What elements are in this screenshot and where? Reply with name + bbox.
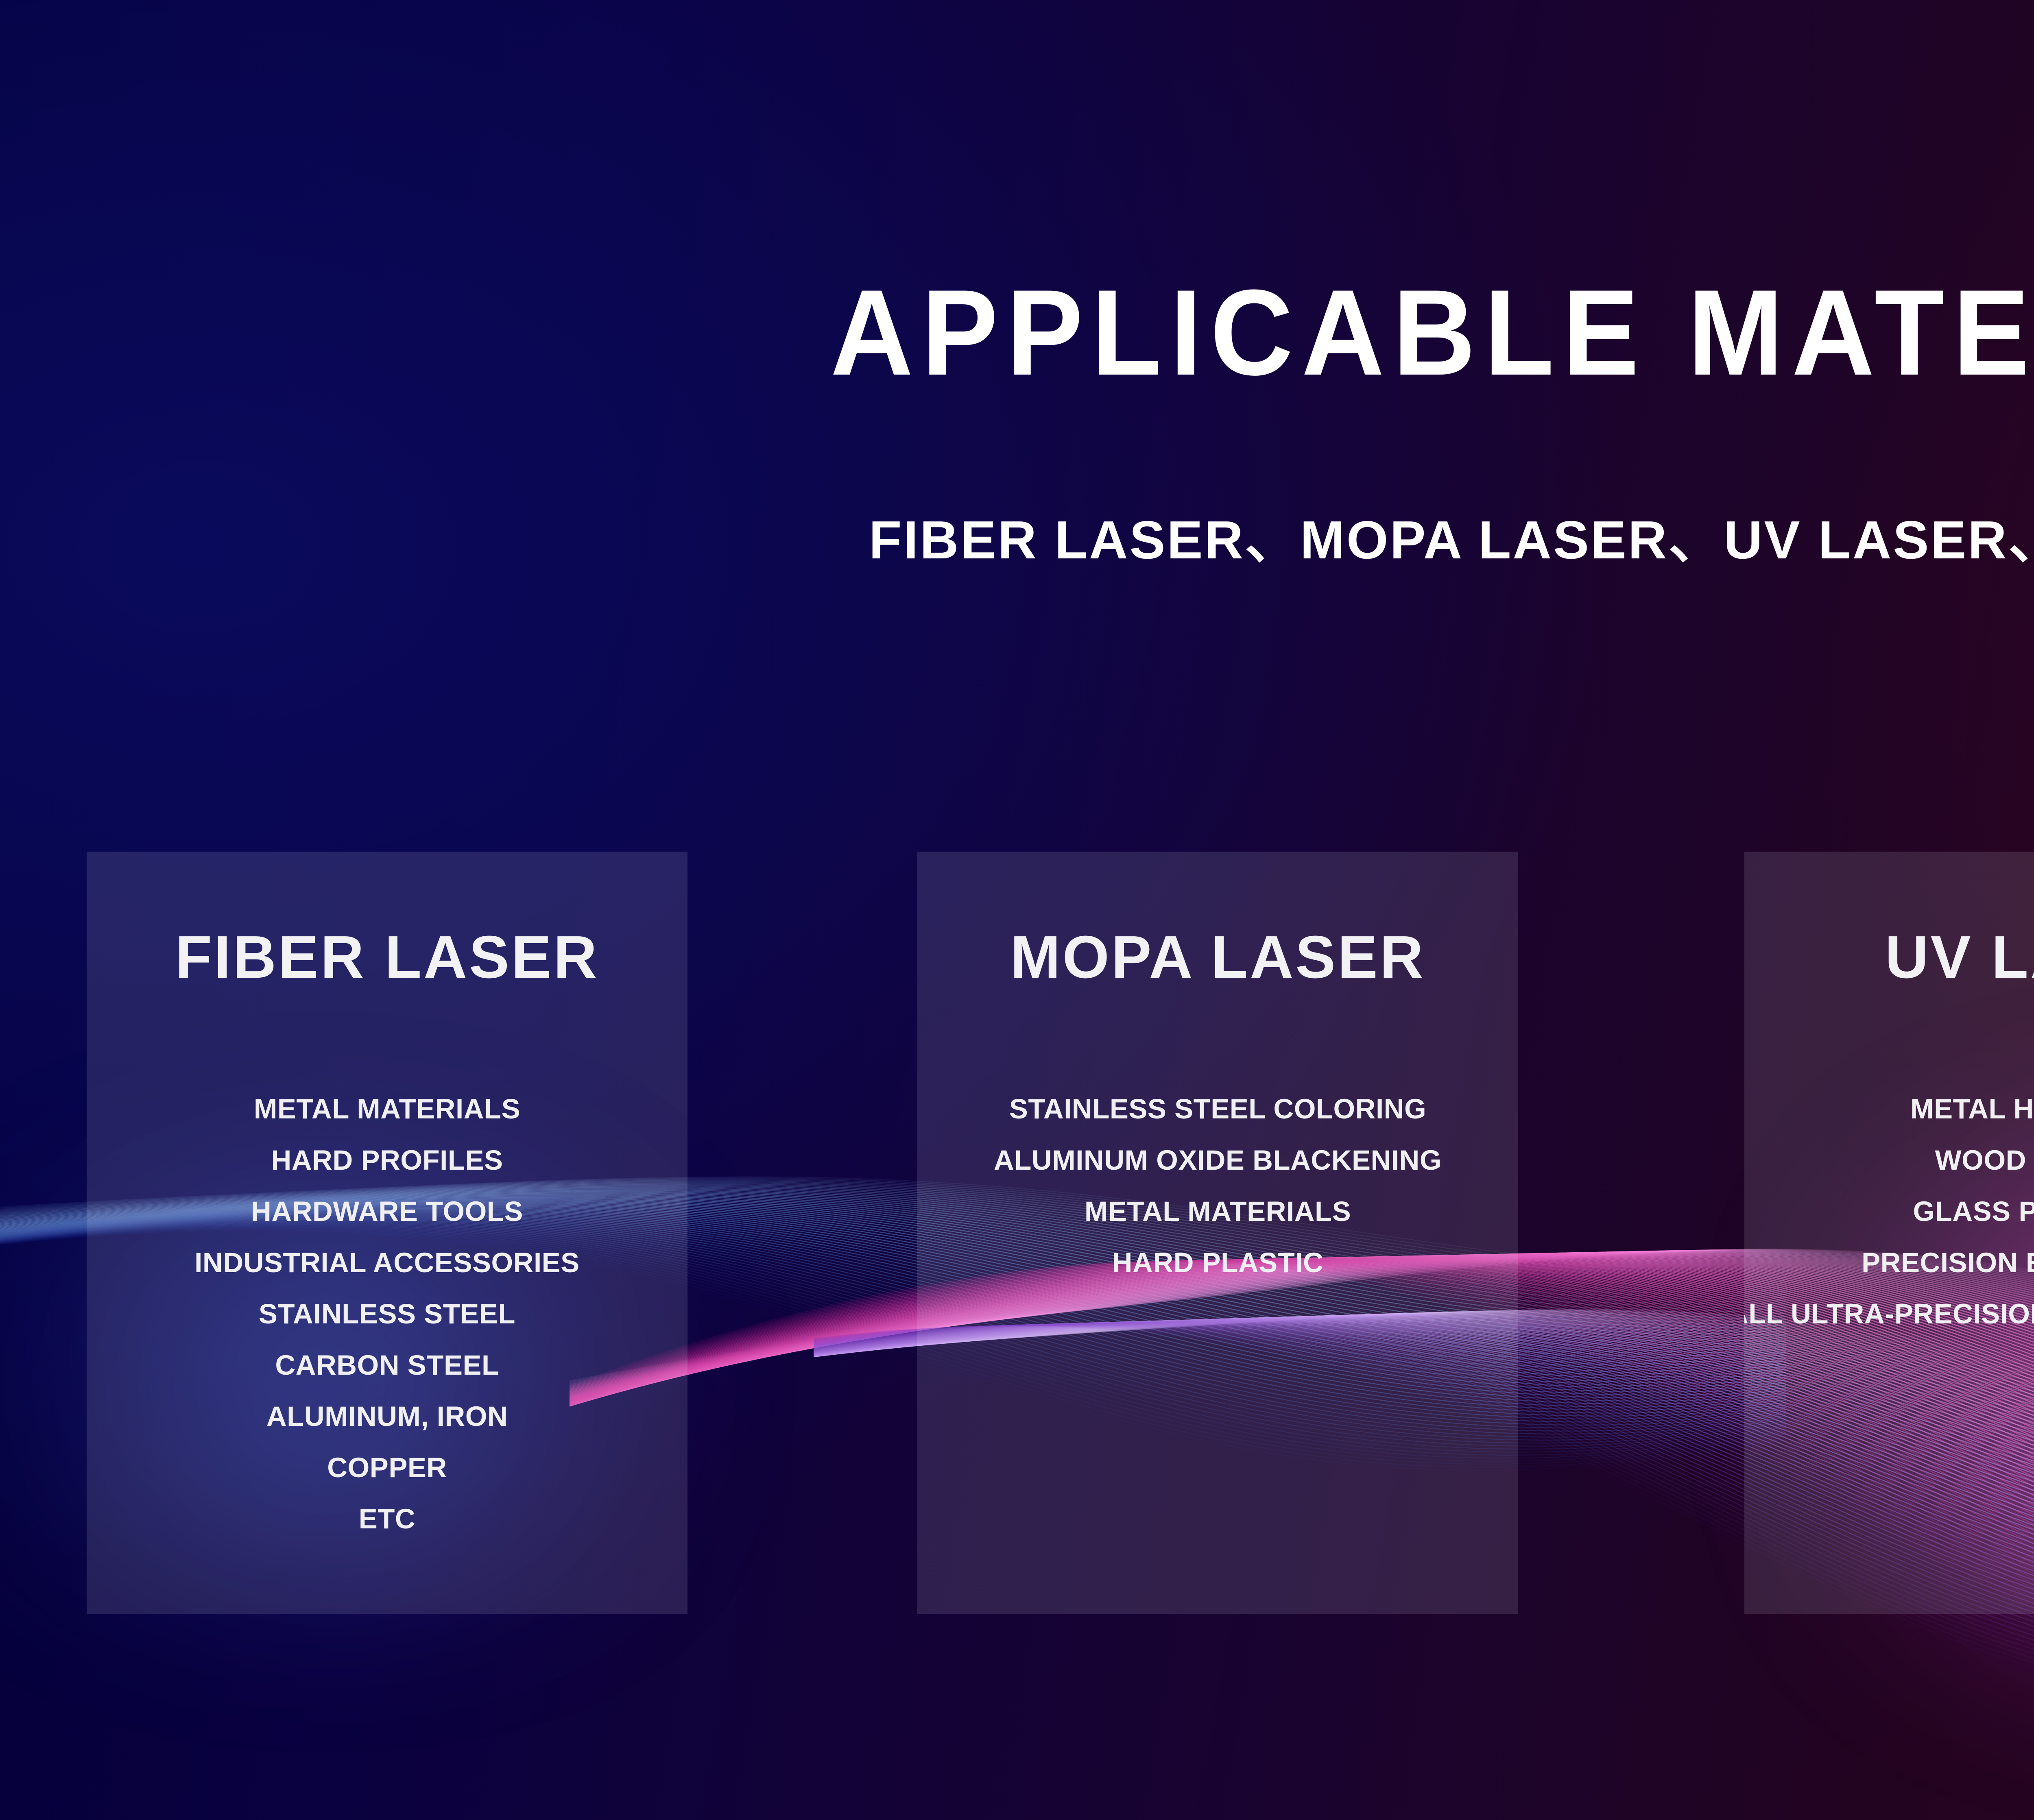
panel-title: FIBER LASER xyxy=(87,923,687,992)
panel-mopa-laser: MOPA LASER STAINLESS STEEL COLORINGALUMI… xyxy=(917,852,1518,1614)
page-title: APPLICABLE MATERIALS xyxy=(98,268,2034,397)
panel-material-list: METAL HARDWAREWOOD PLASTICGLASS PRODUCTS… xyxy=(1744,1083,2034,1340)
material-item: METAL MATERIALS xyxy=(917,1186,1518,1237)
panel-material-list: STAINLESS STEEL COLORINGALUMINUM OXIDE B… xyxy=(917,1083,1518,1288)
material-item: HARDWARE TOOLS xyxy=(87,1186,687,1237)
panel-title: MOPA LASER xyxy=(917,923,1518,992)
laser-type-panels: FIBER LASER METAL MATERIALSHARD PROFILES… xyxy=(0,852,2034,1616)
material-item: METAL MATERIALS xyxy=(87,1083,687,1135)
material-item: STAINLESS STEEL COLORING xyxy=(917,1083,1518,1135)
material-item: GLASS PRODUCTS xyxy=(1744,1186,2034,1237)
material-item: WOOD PLASTIC xyxy=(1744,1135,2034,1186)
panel-uv-laser: UV LASER METAL HARDWAREWOOD PLASTICGLASS… xyxy=(1744,852,2034,1614)
panel-fiber-laser: FIBER LASER METAL MATERIALSHARD PROFILES… xyxy=(87,852,687,1614)
material-item: STAINLESS STEEL xyxy=(87,1288,687,1340)
applicable-materials-banner: APPLICABLE MATERIALS FIBER LASER、MOPA LA… xyxy=(0,0,2034,1820)
material-item: HARD PLASTIC xyxy=(917,1237,1518,1288)
material-item: ALL ULTRA-PRECISION ENGRAVING MATERIALS xyxy=(1744,1288,2034,1340)
panel-title: UV LASER xyxy=(1744,923,2034,992)
material-item: INDUSTRIAL ACCESSORIES xyxy=(87,1237,687,1288)
page-subtitle: FIBER LASER、MOPA LASER、UV LASER、CO2 LASE… xyxy=(0,510,2034,569)
material-item: HARD PROFILES xyxy=(87,1135,687,1186)
material-item: ALUMINUM, IRON xyxy=(87,1391,687,1442)
material-item: ALUMINUM OXIDE BLACKENING xyxy=(917,1135,1518,1186)
panel-material-list: METAL MATERIALSHARD PROFILESHARDWARE TOO… xyxy=(87,1083,687,1545)
material-item: CARBON STEEL xyxy=(87,1340,687,1391)
material-item: METAL HARDWARE xyxy=(1744,1083,2034,1135)
material-item: PRECISION ELECTRONICS xyxy=(1744,1237,2034,1288)
material-item: ETC xyxy=(87,1493,687,1545)
material-item: COPPER xyxy=(87,1442,687,1493)
